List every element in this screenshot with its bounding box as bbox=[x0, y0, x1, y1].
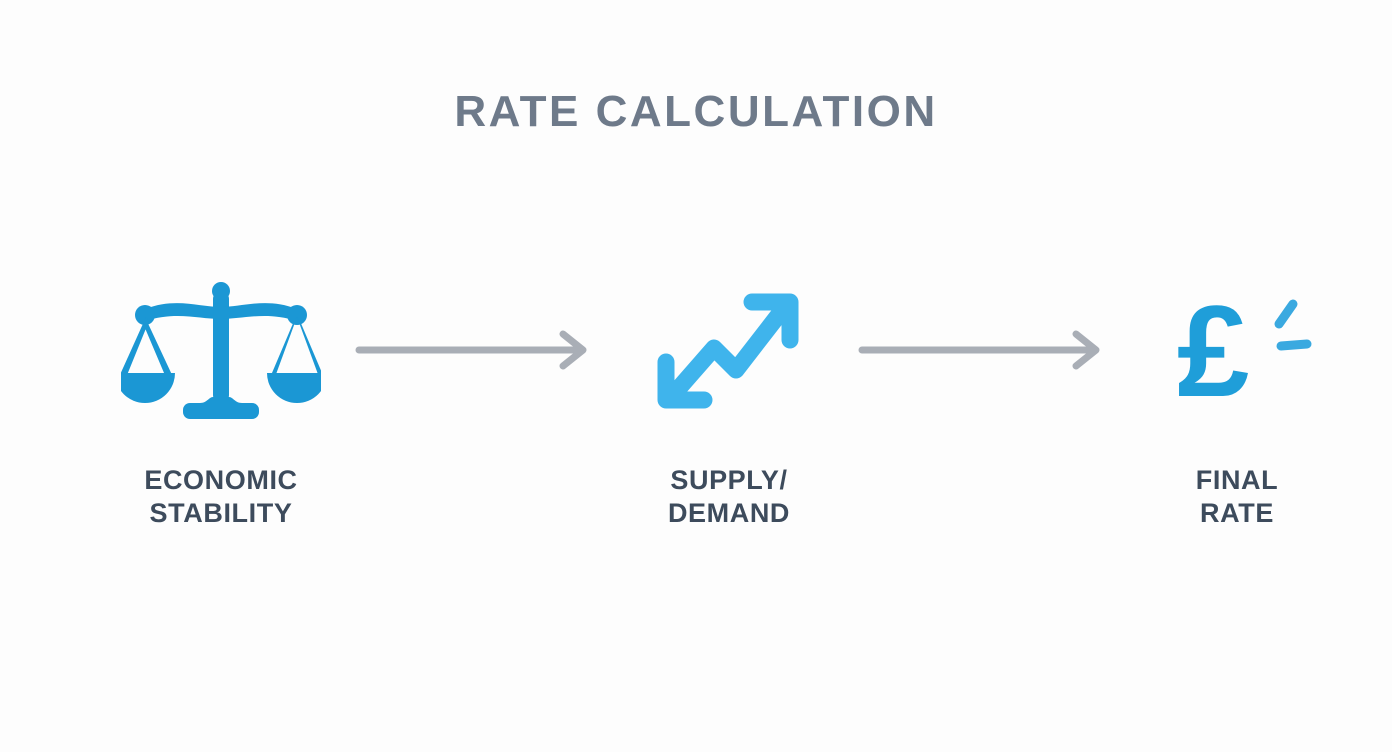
step-label-line1: ECONOMIC bbox=[144, 465, 297, 495]
step-label-line2: RATE bbox=[1196, 497, 1278, 530]
flow-step-economic-stability: ECONOMIC STABILITY bbox=[96, 270, 346, 531]
right-arrow-icon bbox=[355, 330, 595, 370]
flow-connector-2 bbox=[854, 270, 1112, 430]
step-label-line1: SUPPLY/ bbox=[670, 465, 787, 495]
pound-sterling-sparkle-icon: £ bbox=[1157, 270, 1317, 430]
svg-text:£: £ bbox=[1177, 280, 1249, 420]
page-title: RATE CALCULATION bbox=[0, 88, 1392, 136]
flow-connector-1 bbox=[346, 270, 604, 430]
right-arrow-icon bbox=[858, 330, 1108, 370]
step-label-final-rate: FINAL RATE bbox=[1196, 464, 1278, 531]
step-label-line2: DEMAND bbox=[668, 497, 790, 530]
step-label-line1: FINAL bbox=[1196, 465, 1278, 495]
step-label-line2: STABILITY bbox=[144, 497, 297, 530]
step-label-supply-demand: SUPPLY/ DEMAND bbox=[668, 464, 790, 531]
flow-step-supply-demand: SUPPLY/ DEMAND bbox=[604, 270, 854, 531]
double-headed-zigzag-arrow-icon bbox=[644, 270, 814, 430]
step-label-economic-stability: ECONOMIC STABILITY bbox=[144, 464, 297, 531]
rate-calculation-infographic: RATE CALCULATION bbox=[0, 0, 1392, 752]
flow-diagram: ECONOMIC STABILITY bbox=[96, 270, 1296, 560]
flow-step-final-rate: £ FINAL RATE bbox=[1112, 270, 1362, 531]
scales-of-justice-icon bbox=[121, 270, 321, 430]
